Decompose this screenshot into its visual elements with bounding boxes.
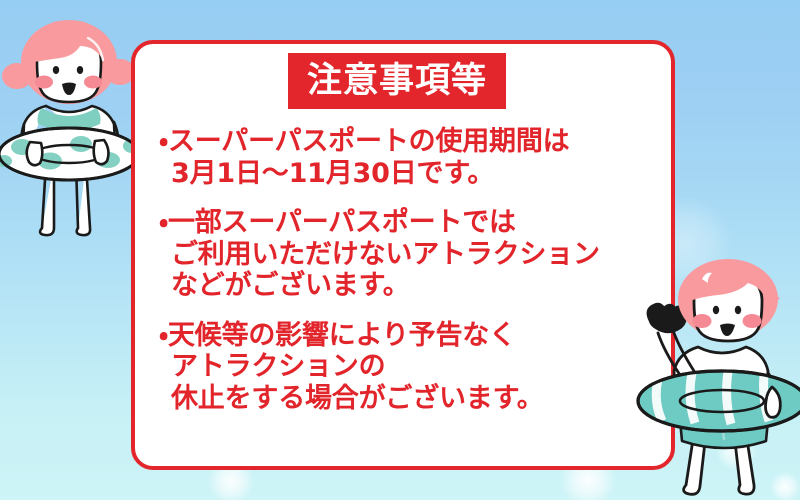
list-item: ・一部スーパーパスポートでは ご利用いただけないアトラクション などがございます… bbox=[159, 207, 663, 302]
notice-line: アトラクションの bbox=[159, 351, 663, 383]
page-title: 注意事項等 bbox=[307, 64, 487, 99]
notice-card: 注意事項等 ・スーパーパスポートの使用期間は 3月1日〜11月30日です。 ・一… bbox=[131, 40, 675, 470]
notice-line: ・スーパーパスポートの使用期間は bbox=[159, 126, 663, 158]
boy-character-illustration bbox=[636, 255, 800, 500]
notice-line: ・天候等の影響により予告なく bbox=[159, 320, 663, 352]
list-item: ・スーパーパスポートの使用期間は 3月1日〜11月30日です。 bbox=[159, 126, 663, 189]
list-item: ・天候等の影響により予告なく アトラクションの 休止をする場合がございます。 bbox=[159, 320, 663, 415]
title-banner: 注意事項等 bbox=[288, 53, 506, 109]
notice-line: ご利用いただけないアトラクション bbox=[159, 239, 663, 271]
notice-line: などがございます。 bbox=[159, 270, 663, 302]
notice-list: ・スーパーパスポートの使用期間は 3月1日〜11月30日です。 ・一部スーパーパ… bbox=[159, 126, 663, 415]
notice-line: ・一部スーパーパスポートでは bbox=[159, 207, 663, 239]
notice-line: 休止をする場合がございます。 bbox=[159, 383, 663, 415]
notice-line: 3月1日〜11月30日です。 bbox=[159, 158, 663, 190]
notice-poster: 注意事項等 ・スーパーパスポートの使用期間は 3月1日〜11月30日です。 ・一… bbox=[0, 0, 800, 500]
